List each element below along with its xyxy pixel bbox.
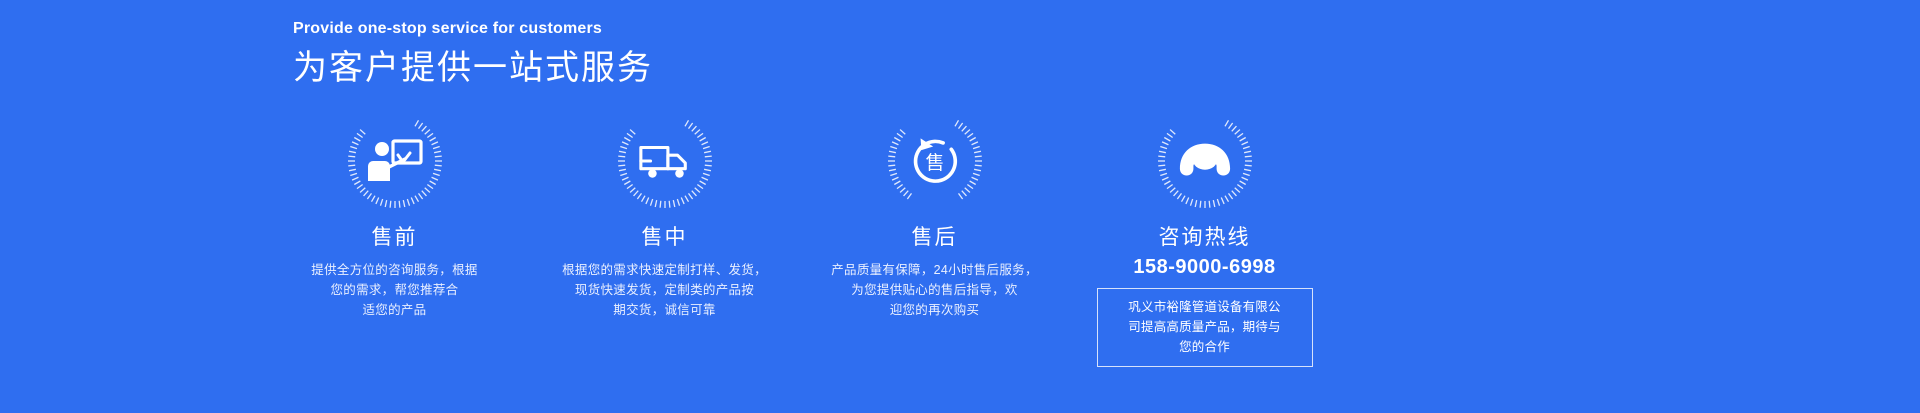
service-card-insale[interactable]: 售中 根据您的需求快速定制打样、发货， 现货快速发货，定制类的产品按 期交货，诚… — [532, 112, 797, 367]
svg-text:售: 售 — [925, 152, 944, 174]
card-desc-line: 您的需求，帮您推荐合 — [280, 280, 510, 300]
icon-ring-presale — [346, 112, 444, 210]
icon-ring-hotline — [1156, 112, 1254, 210]
card-desc-line: 为您提供贴心的售后指导，欢 — [820, 280, 1050, 300]
banner-chinese-title: 为客户提供一站式服务 — [293, 44, 653, 92]
service-banner: Provide one-stop service for customers 为… — [0, 0, 1920, 413]
card-title: 售中 — [642, 224, 688, 252]
card-description: 根据您的需求快速定制打样、发货， 现货快速发货，定制类的产品按 期交货，诚信可靠 — [550, 260, 780, 320]
card-title: 咨询热线 — [1159, 224, 1251, 252]
service-card-hotline[interactable]: 咨询热线 158-9000-6998 巩义市裕隆管道设备有限公 司提高高质量产品… — [1072, 112, 1337, 367]
card-desc-line: 现货快速发货，定制类的产品按 — [550, 280, 780, 300]
company-note-box: 巩义市裕隆管道设备有限公 司提高高质量产品，期待与 您的合作 — [1097, 288, 1313, 367]
service-card-aftersale[interactable]: 售 售后 产品质量有保障，24小时售后服务， 为您提供贴心的售后指导，欢 迎您的… — [802, 112, 1067, 367]
card-desc-line: 根据您的需求快速定制打样、发货， — [550, 260, 780, 280]
hotline-phone-number[interactable]: 158-9000-6998 — [1133, 254, 1275, 280]
presenter-whiteboard-icon — [367, 133, 423, 189]
telephone-icon — [1177, 133, 1233, 189]
company-note-line: 司提高高质量产品，期待与 — [1108, 317, 1302, 337]
after-sales-arrow-icon: 售 — [907, 133, 963, 189]
service-card-presale[interactable]: 售前 提供全方位的咨询服务，根据 您的需求，帮您推荐合 适您的产品 — [262, 112, 527, 367]
service-card-list: 售前 提供全方位的咨询服务，根据 您的需求，帮您推荐合 适您的产品 — [262, 112, 1662, 367]
card-description: 提供全方位的咨询服务，根据 您的需求，帮您推荐合 适您的产品 — [280, 260, 510, 320]
card-title: 售前 — [372, 224, 418, 252]
banner-heading: Provide one-stop service for customers 为… — [293, 18, 653, 92]
company-note-line: 巩义市裕隆管道设备有限公 — [1108, 297, 1302, 317]
card-desc-line: 产品质量有保障，24小时售后服务， — [820, 260, 1050, 280]
icon-ring-aftersale: 售 — [886, 112, 984, 210]
card-description: 产品质量有保障，24小时售后服务， 为您提供贴心的售后指导，欢 迎您的再次购买 — [820, 260, 1050, 320]
banner-english-subtitle: Provide one-stop service for customers — [293, 18, 653, 40]
delivery-truck-icon — [637, 133, 693, 189]
card-desc-line: 提供全方位的咨询服务，根据 — [280, 260, 510, 280]
card-desc-line: 期交货，诚信可靠 — [550, 300, 780, 320]
company-note-line: 您的合作 — [1108, 337, 1302, 357]
card-title: 售后 — [912, 224, 958, 252]
icon-ring-insale — [616, 112, 714, 210]
card-desc-line: 迎您的再次购买 — [820, 300, 1050, 320]
card-desc-line: 适您的产品 — [280, 300, 510, 320]
